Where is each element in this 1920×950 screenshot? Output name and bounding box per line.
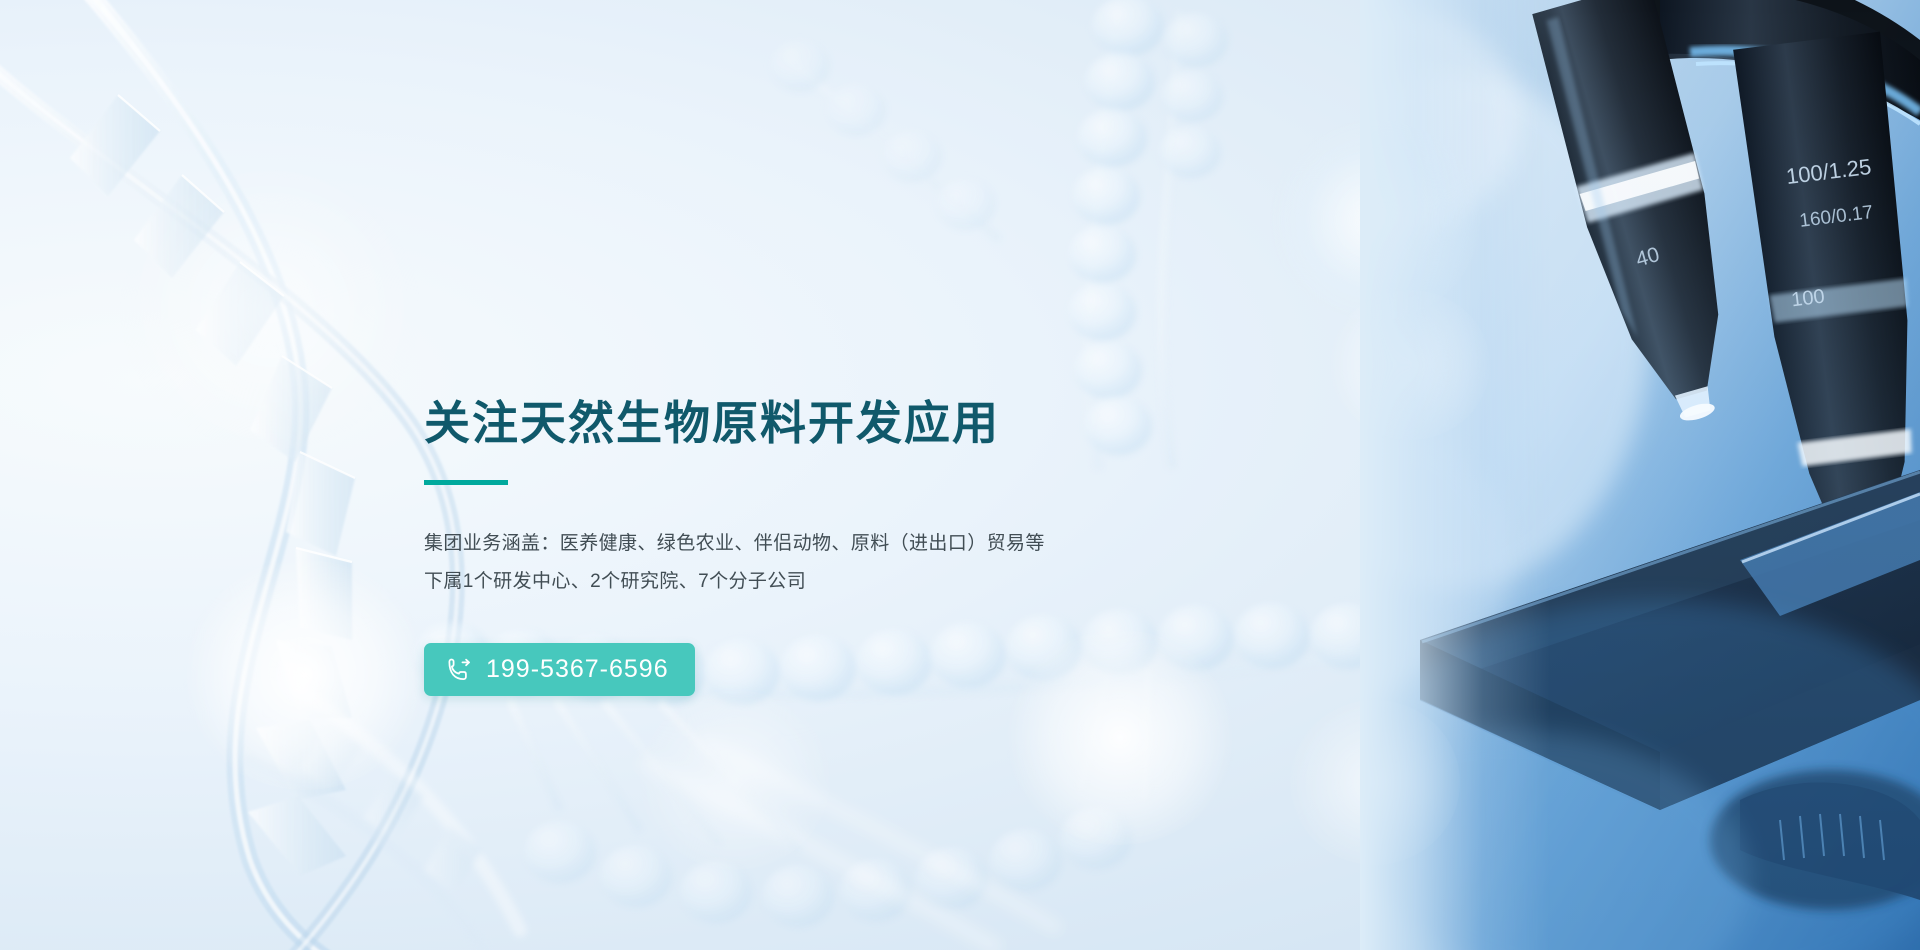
hero-banner: 40 100/1.25 160/0.17 100 xyxy=(0,0,1920,950)
phone-cta-button[interactable]: 199-5367-6596 xyxy=(424,643,695,696)
hero-content: 关注天然生物原料开发应用 集团业务涵盖：医养健康、绿色农业、伴侣动物、原料（进出… xyxy=(424,398,1184,696)
hero-description-line-2: 下属1个研发中心、2个研究院、7个分子公司 xyxy=(424,563,1184,601)
hero-description-line-1: 集团业务涵盖：医养健康、绿色农业、伴侣动物、原料（进出口）贸易等 xyxy=(424,525,1184,563)
phone-forward-icon xyxy=(446,656,473,683)
phone-number-label: 199-5367-6596 xyxy=(486,657,669,682)
microscope-photo: 40 100/1.25 160/0.17 100 xyxy=(1360,0,1920,950)
hero-description: 集团业务涵盖：医养健康、绿色农业、伴侣动物、原料（进出口）贸易等 下属1个研发中… xyxy=(424,485,1184,601)
hero-headline: 关注天然生物原料开发应用 xyxy=(424,398,1184,450)
